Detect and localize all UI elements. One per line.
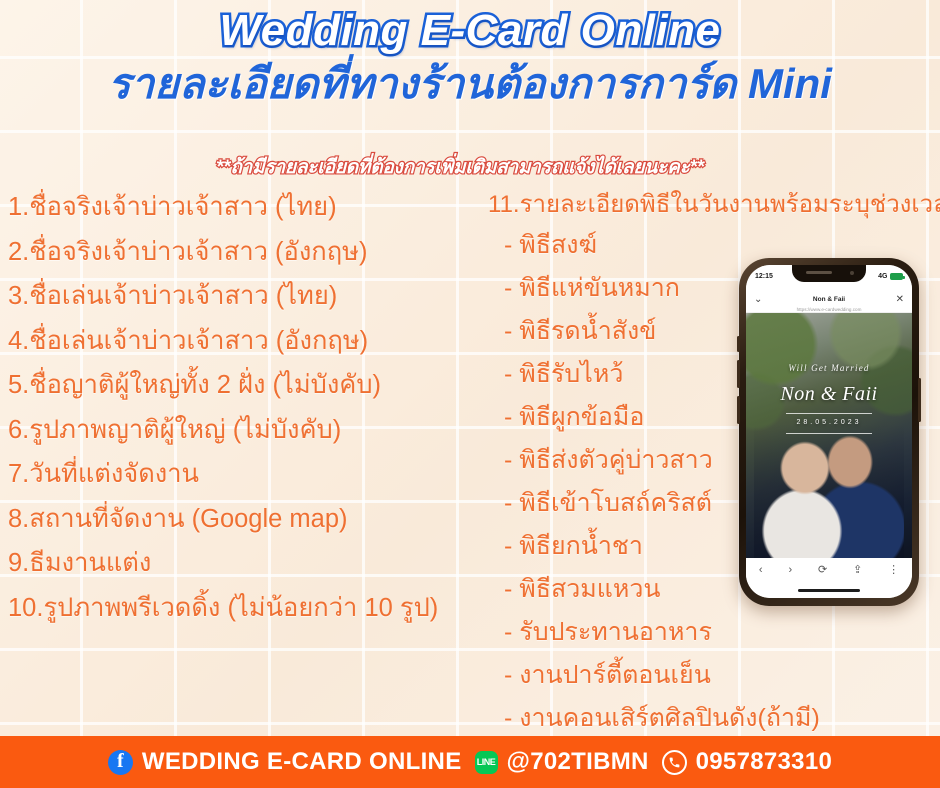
ceremony-heading: 11.รายละเอียดพิธีในวันงานพร้อมระบุช่วงเว… bbox=[488, 193, 940, 217]
poster-title-sub: รายละเอียดที่ทางร้านต้องการการ์ด Mini bbox=[0, 60, 940, 108]
browser-title-group: Non & Faii https://www.e-cardwedding.com bbox=[762, 288, 895, 312]
footer-phone[interactable]: 0957873310 bbox=[662, 748, 832, 776]
card-tagline: Will Get Married bbox=[746, 363, 912, 373]
footer-facebook[interactable]: f WEDDING E-CARD ONLINE bbox=[108, 748, 462, 776]
battery-icon bbox=[890, 273, 903, 280]
phone-power-button bbox=[918, 378, 921, 422]
list-item: 3.ชื่อเล่นเจ้าบ่าวเจ้าสาว (ไทย) bbox=[8, 284, 478, 310]
home-indicator[interactable] bbox=[798, 589, 860, 592]
network-label: 4G bbox=[878, 273, 887, 280]
phone-notch bbox=[792, 265, 866, 282]
browser-url: https://www.e-cardwedding.com bbox=[762, 307, 895, 312]
list-item: - งานคอนเสิร์ตศิลปินดัง(ถ้ามี) bbox=[488, 706, 940, 731]
phone-volume-up-button bbox=[737, 360, 740, 388]
menu-icon[interactable]: ⋮ bbox=[888, 565, 899, 576]
list-item: 10.รูปภาพพรีเวดดิ้ง (ไม่น้อยกว่า 10 รูป) bbox=[8, 596, 478, 622]
list-item: 7.วันที่แต่งจัดงาน bbox=[8, 462, 478, 488]
phone-mockup: 12:15 4G ⌄ Non & Faii https://www.e-card… bbox=[739, 258, 919, 606]
list-item: 2.ชื่อจริงเจ้าบ่าวเจ้าสาว (อังกฤษ) bbox=[8, 240, 478, 266]
close-icon[interactable]: ✕ bbox=[896, 295, 904, 305]
requirements-left-column: 1.ชื่อจริงเจ้าบ่าวเจ้าสาว (ไทย) 2.ชื่อจร… bbox=[8, 195, 478, 640]
phone-label: 0957873310 bbox=[696, 748, 832, 776]
poster-canvas: Wedding E-Card Online รายละเอียดที่ทางร้… bbox=[0, 0, 940, 788]
reload-icon[interactable]: ⟳ bbox=[818, 565, 827, 576]
browser-bottom-toolbar: ‹ › ⟳ ⇪ ⋮ bbox=[746, 558, 912, 598]
facebook-label: WEDDING E-CARD ONLINE bbox=[142, 748, 462, 776]
list-item: 8.สถานที่จัดงาน (Google map) bbox=[8, 507, 478, 533]
list-item: - พิธีสงฆ์ bbox=[488, 233, 940, 258]
card-couple-names: Non & Faii bbox=[746, 383, 912, 406]
footer-line[interactable]: LINE @702TIBMN bbox=[475, 748, 649, 776]
phone-front-camera bbox=[850, 271, 854, 275]
phone-volume-down-button bbox=[737, 396, 740, 424]
phone-mute-switch bbox=[737, 336, 740, 352]
line-icon: LINE bbox=[475, 751, 498, 774]
poster-header: Wedding E-Card Online รายละเอียดที่ทางร้… bbox=[0, 8, 940, 108]
poster-note: **ถ้ามีรายละเอียดที่ต้องการเพิ่มเติมสามา… bbox=[0, 152, 940, 182]
card-couple-photo bbox=[754, 423, 904, 573]
poster-title-main: Wedding E-Card Online bbox=[0, 8, 940, 54]
list-item: 9.ธีมงานแต่ง bbox=[8, 551, 478, 577]
browser-top-bar: ⌄ Non & Faii https://www.e-cardwedding.c… bbox=[746, 287, 912, 313]
list-item: - งานปาร์ตี้ตอนเย็น bbox=[488, 663, 940, 688]
status-time: 12:15 bbox=[755, 273, 773, 280]
card-divider-top bbox=[786, 413, 872, 414]
line-label: @702TIBMN bbox=[507, 748, 649, 776]
facebook-icon: f bbox=[108, 750, 133, 775]
list-item: 4.ชื่อเล่นเจ้าบ่าวเจ้าสาว (อังกฤษ) bbox=[8, 329, 478, 355]
phone-screen: 12:15 4G ⌄ Non & Faii https://www.e-card… bbox=[746, 265, 912, 598]
card-date: 28.05.2023 bbox=[746, 419, 912, 426]
status-right-group: 4G bbox=[878, 273, 903, 280]
wedding-card-preview: Will Get Married Non & Faii 28.05.2023 bbox=[746, 313, 912, 573]
phone-status-bar: 12:15 4G bbox=[746, 265, 912, 287]
contact-footer-bar: f WEDDING E-CARD ONLINE LINE @702TIBMN 0… bbox=[0, 736, 940, 788]
list-item: - รับประทานอาหาร bbox=[488, 620, 940, 645]
list-item: 5.ชื่อญาติผู้ใหญ่ทั้ง 2 ฝั่ง (ไม่บังคับ) bbox=[8, 373, 478, 399]
list-item: 1.ชื่อจริงเจ้าบ่าวเจ้าสาว (ไทย) bbox=[8, 195, 478, 221]
phone-icon bbox=[662, 750, 687, 775]
list-item: 6.รูปภาพญาติผู้ใหญ่ (ไม่บังคับ) bbox=[8, 418, 478, 444]
card-divider-bottom bbox=[786, 433, 872, 434]
forward-icon[interactable]: › bbox=[788, 565, 792, 576]
browser-page-title: Non & Faii bbox=[813, 296, 845, 303]
chevron-down-icon[interactable]: ⌄ bbox=[754, 295, 762, 305]
share-icon[interactable]: ⇪ bbox=[853, 565, 862, 576]
back-icon[interactable]: ‹ bbox=[759, 565, 763, 576]
phone-speaker bbox=[806, 271, 832, 274]
